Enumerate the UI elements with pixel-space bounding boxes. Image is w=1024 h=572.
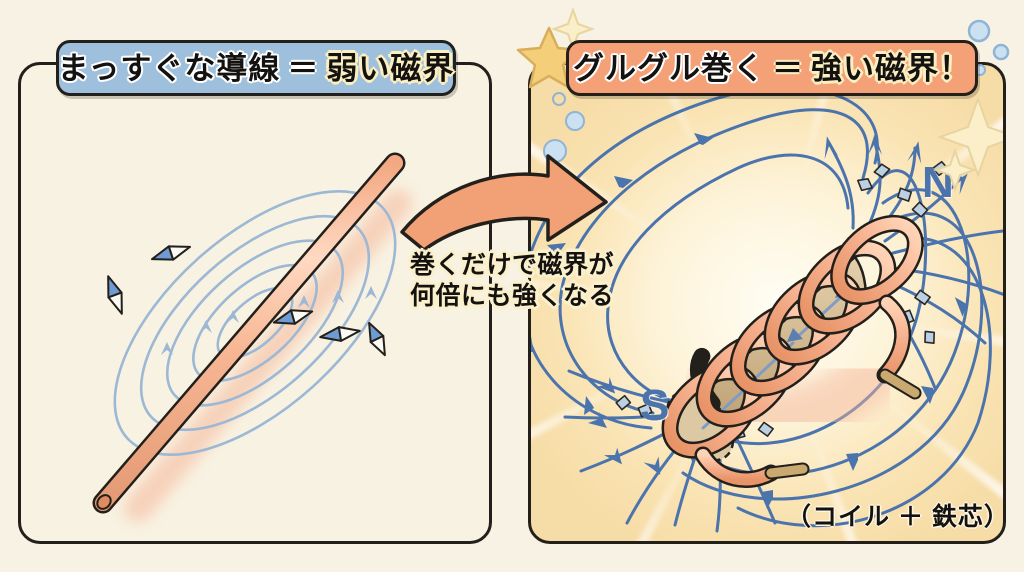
badge-left-highlight-text: 弱い磁界 bbox=[326, 53, 454, 84]
badge-right-highlight-text: 強い磁界！ bbox=[811, 53, 971, 84]
badge-left-equals: ＝ bbox=[287, 53, 319, 84]
badge-right-equals: ＝ bbox=[772, 53, 804, 84]
big-curved-arrow-icon bbox=[402, 156, 606, 250]
center-annotation-line1: 巻くだけで磁界が bbox=[392, 250, 632, 281]
badge-straight-wire[interactable]: まっすぐな導線 ＝ 弱い磁界 bbox=[56, 40, 456, 96]
figure-canvas: まっすぐな導線 ＝ 弱い磁界 グルグル巻く ＝ 強い磁界！ 巻くだけで磁界が 何… bbox=[0, 0, 1024, 572]
badge-right-primary-text: グルグル巻く bbox=[573, 53, 765, 84]
center-annotation: 巻くだけで磁界が 何倍にも強くなる bbox=[392, 250, 632, 311]
badge-coil[interactable]: グルグル巻く ＝ 強い磁界！ bbox=[566, 40, 978, 96]
badge-left-primary-text: まっすぐな導線 bbox=[58, 53, 281, 84]
center-annotation-line2: 何倍にも強くなる bbox=[392, 281, 632, 312]
